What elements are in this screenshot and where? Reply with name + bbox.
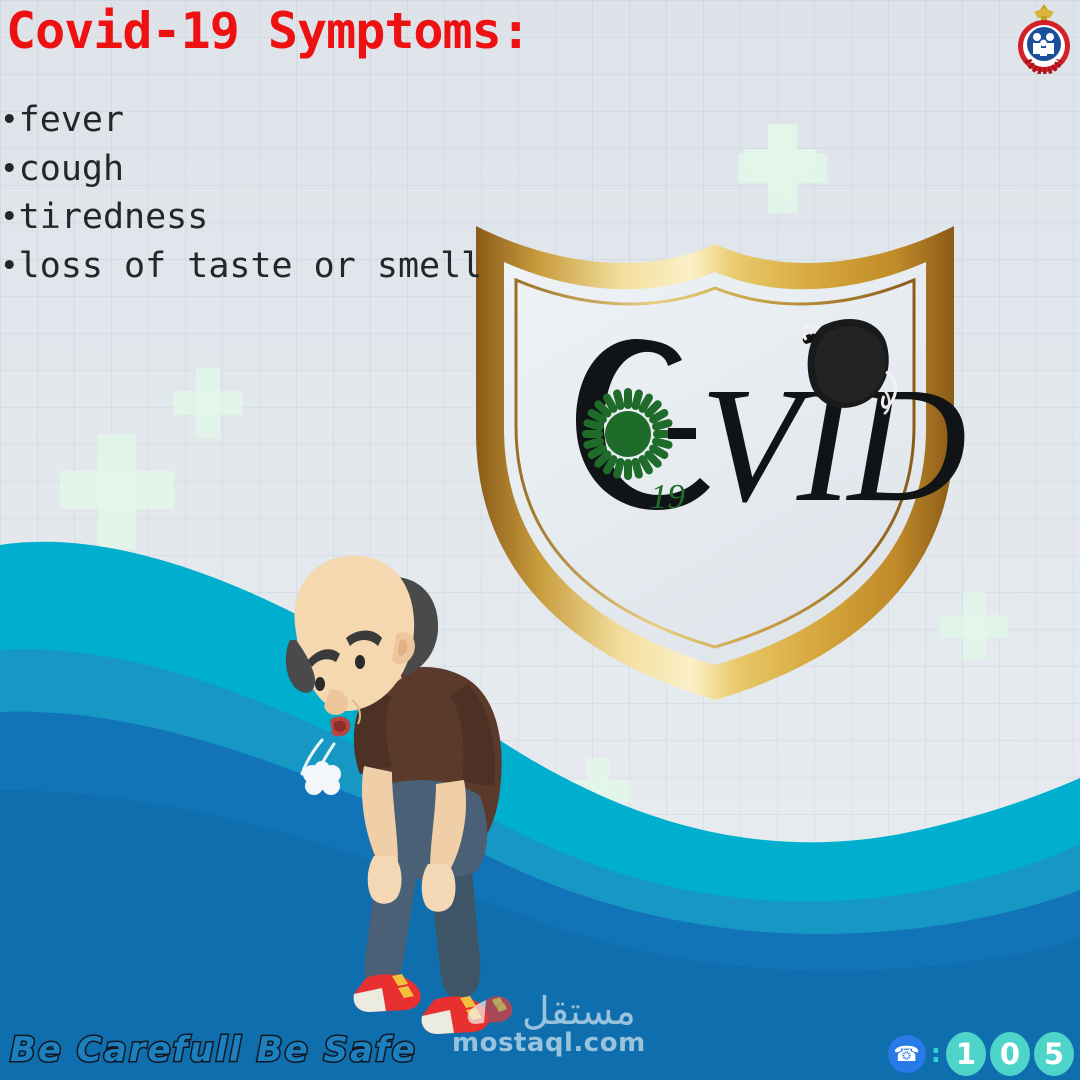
safety-tagline: Be Carefull Be Safe	[10, 1030, 417, 1070]
list-item: •loss of taste or smell	[0, 242, 482, 291]
bullet-icon: •	[0, 102, 19, 138]
bullet-icon: •	[0, 248, 19, 284]
watermark-arabic: مستقل	[522, 992, 636, 1030]
list-item: •tiredness	[0, 193, 482, 242]
mostaql-watermark: مستقل mostaql.com	[452, 992, 646, 1058]
hotline-digit: 0	[990, 1032, 1030, 1076]
shoe-logo-icon	[462, 995, 516, 1027]
list-item: •cough	[0, 145, 482, 194]
poster-canvas: 19 VID	[0, 0, 1080, 1080]
shoe-left	[354, 974, 421, 1012]
eagle-icon	[1034, 4, 1054, 22]
bullet-icon: •	[0, 199, 19, 235]
eye-right	[355, 655, 365, 669]
hotline-digit: 5	[1034, 1032, 1074, 1076]
watermark-latin: mostaql.com	[452, 1028, 646, 1058]
eye-left	[315, 677, 325, 691]
symptom-label: loss of taste or smell	[19, 246, 483, 286]
list-item: •fever	[0, 96, 482, 145]
hotline-digit: 1	[946, 1032, 986, 1076]
ministry-of-health-logo	[1012, 2, 1076, 74]
bullet-icon: •	[0, 151, 19, 187]
page-title: Covid-19 Symptoms:	[6, 6, 530, 56]
symptom-label: tiredness	[19, 197, 209, 237]
symptom-label: fever	[19, 100, 124, 140]
mouth-inner	[334, 721, 346, 732]
symptom-label: cough	[19, 149, 124, 189]
symptoms-list: •fever •cough •tiredness •loss of taste …	[0, 96, 482, 291]
cough-cloud	[303, 761, 341, 795]
cough-effect	[302, 740, 341, 795]
hand-left	[368, 856, 402, 904]
phone-icon: ☎	[888, 1035, 926, 1073]
hand-right	[422, 864, 456, 912]
hotline-badge[interactable]: ☎ : 1 0 5	[888, 1032, 1074, 1076]
hotline-separator: :	[931, 1039, 941, 1069]
